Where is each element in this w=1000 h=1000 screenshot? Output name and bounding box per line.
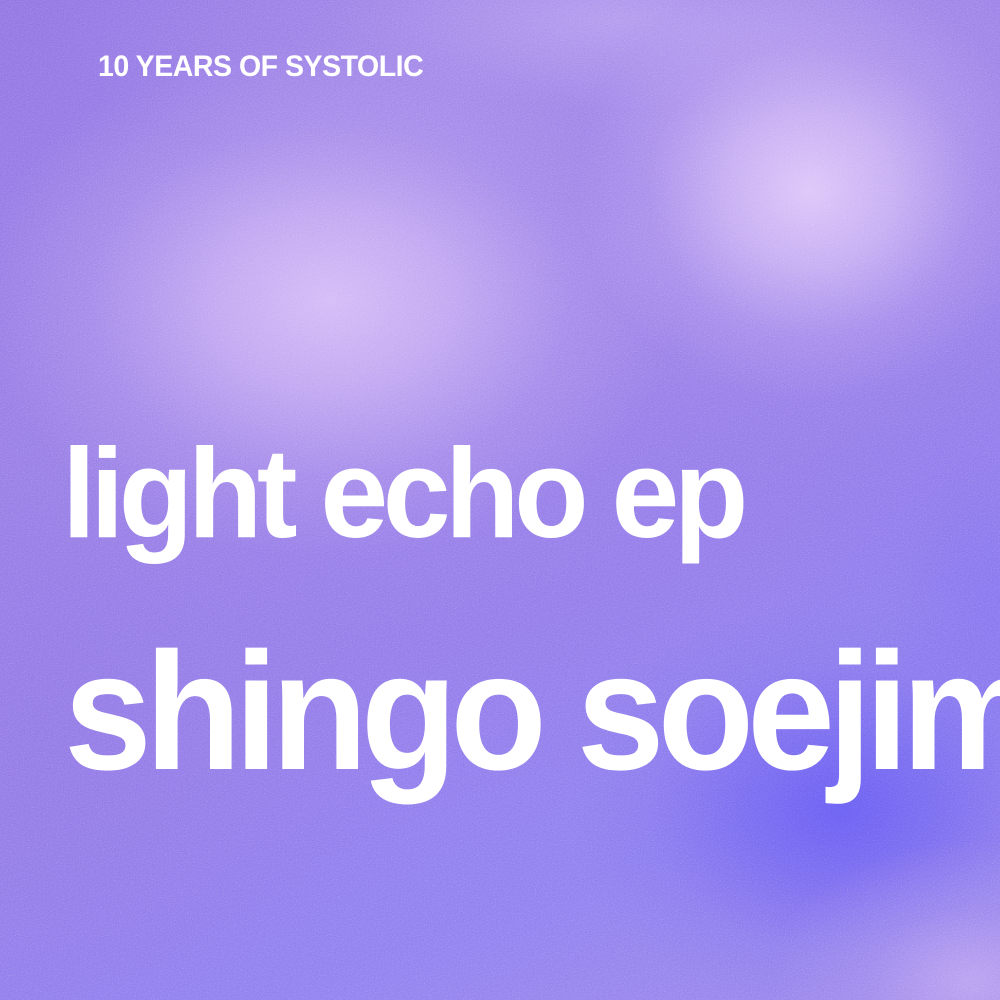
- artist-name: shingo soejima: [64, 628, 1000, 795]
- anniversary-eyebrow-text: 10 YEARS OF SYSTOLIC: [98, 52, 423, 82]
- album-cover: 10 YEARS OF SYSTOLIC light echo ep shing…: [0, 0, 1000, 1000]
- cover-text-block: 10 YEARS OF SYSTOLIC light echo ep shing…: [0, 0, 1000, 1000]
- release-title: light echo ep: [62, 430, 743, 557]
